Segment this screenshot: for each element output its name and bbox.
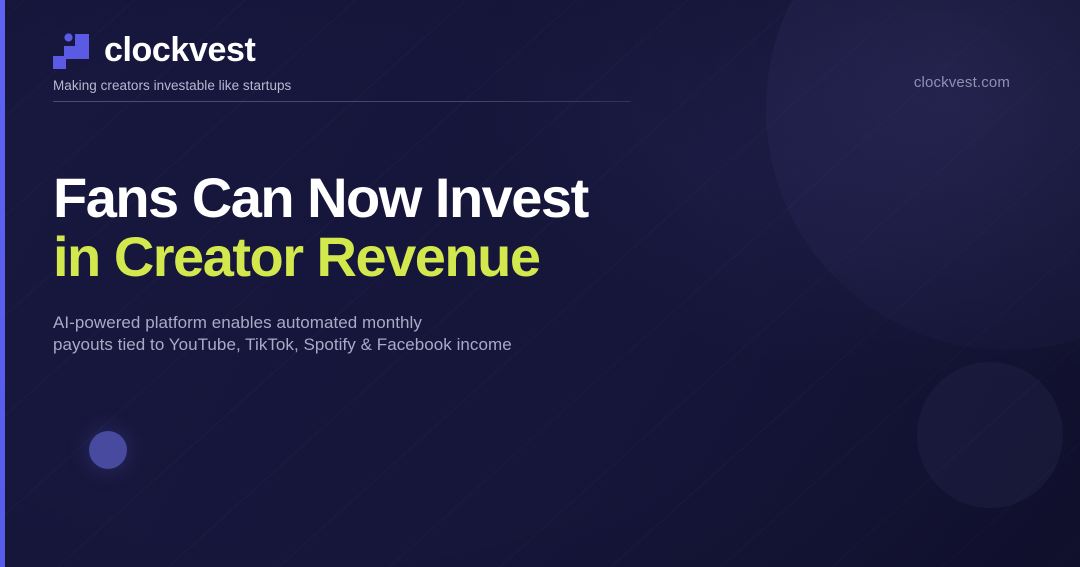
slide-header: clockvest Making creators investable lik… (53, 28, 631, 93)
brand-lockup: clockvest (53, 28, 631, 72)
headline-line-primary: Fans Can Now Invest (53, 170, 753, 227)
left-edge-accent-bar (0, 0, 5, 567)
decorative-circle-small (917, 362, 1063, 508)
headline-block: Fans Can Now Invest in Creator Revenue (53, 170, 753, 285)
staircase-logo-icon (53, 31, 91, 69)
subtitle-line-2: payouts tied to YouTube, TikTok, Spotify… (53, 334, 693, 356)
subtitle-line-1: AI-powered platform enables automated mo… (53, 312, 693, 334)
brand-wordmark: clockvest (104, 33, 255, 67)
decorative-dot (89, 431, 127, 469)
header-divider (53, 101, 631, 102)
headline-line-accent: in Creator Revenue (53, 229, 753, 286)
subtitle-block: AI-powered platform enables automated mo… (53, 312, 693, 357)
brand-tagline: Making creators investable like startups (53, 78, 631, 93)
site-url-label: clockvest.com (914, 74, 1010, 91)
presentation-slide: clockvest Making creators investable lik… (0, 0, 1080, 567)
